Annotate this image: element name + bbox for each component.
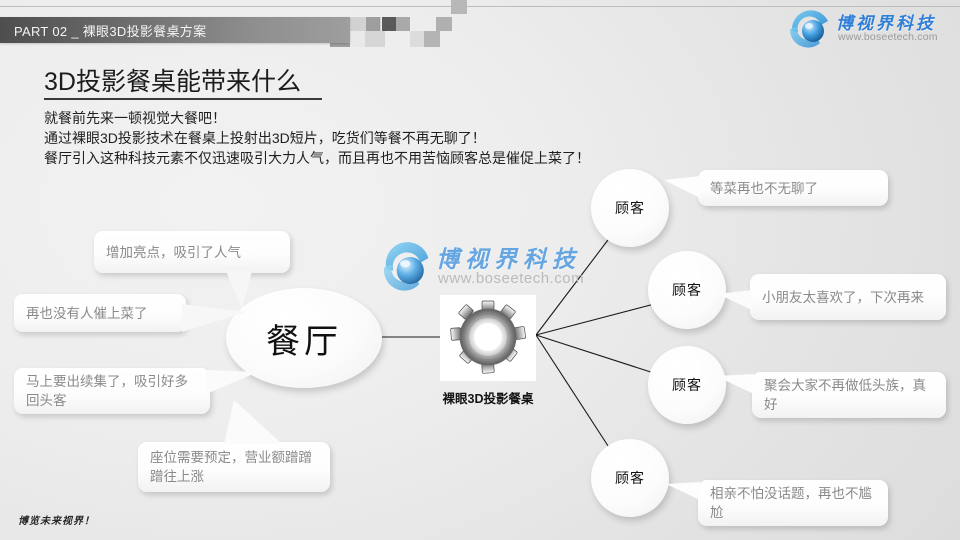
callout-restaurant-3[interactable]: 马上要出续集了，吸引好多回头客 xyxy=(14,368,210,414)
slide-canvas: PART 02 _ 裸眼3D投影餐桌方案 博视界科技 www.boseetech… xyxy=(0,0,960,540)
node-customer-1-label: 顾客 xyxy=(615,198,645,218)
callout-restaurant-2-text: 再也没有人催上菜了 xyxy=(14,304,186,323)
center-watermark: 博视界科技 www.boseetech.com xyxy=(382,238,612,300)
projection-table-caption: 裸眼3D投影餐桌 xyxy=(422,388,554,407)
callout-customer-2-text: 小朋友太喜欢了，下次再来 xyxy=(750,288,946,307)
node-customer-2-label: 顾客 xyxy=(672,280,702,300)
callout-customer-1[interactable]: 等菜再也不无聊了 xyxy=(698,170,888,206)
footer-slogan: 博览未来视界！ xyxy=(18,512,95,527)
node-customer-3[interactable]: 顾客 xyxy=(648,346,726,424)
callout-tail xyxy=(182,304,246,332)
callout-restaurant-4-text: 座位需要预定，营业额蹭蹭蹭往上涨 xyxy=(138,448,330,486)
callout-restaurant-3-text: 马上要出续集了，吸引好多回头客 xyxy=(14,372,210,410)
callout-restaurant-2[interactable]: 再也没有人催上菜了 xyxy=(14,294,186,332)
callout-customer-3-text: 聚会大家不再做低头族，真好 xyxy=(752,376,946,414)
callout-customer-4[interactable]: 相亲不怕没话题，再也不尴尬 xyxy=(698,480,888,526)
callout-tail xyxy=(224,400,282,444)
round-table-topview-icon xyxy=(440,295,536,381)
callout-customer-4-text: 相亲不怕没话题，再也不尴尬 xyxy=(698,484,888,522)
callout-restaurant-1-text: 增加亮点，吸引了人气 xyxy=(94,243,290,262)
callout-customer-1-text: 等菜再也不无聊了 xyxy=(698,179,888,198)
callout-customer-2[interactable]: 小朋友太喜欢了，下次再来 xyxy=(750,274,946,320)
callout-tail xyxy=(716,374,754,394)
projection-table-image xyxy=(440,295,536,381)
node-customer-3-label: 顾客 xyxy=(672,375,702,395)
node-customer-4-label: 顾客 xyxy=(615,468,645,488)
boseetech-eye-icon-watermark xyxy=(382,238,434,294)
callout-tail xyxy=(206,370,258,394)
watermark-url-text: www.boseetech.com xyxy=(438,270,584,287)
node-restaurant-label: 餐厅 xyxy=(266,314,342,363)
node-customer-2[interactable]: 顾客 xyxy=(648,251,726,329)
watermark-brand-text: 博视界科技 xyxy=(436,240,581,274)
callout-restaurant-1[interactable]: 增加亮点，吸引了人气 xyxy=(94,231,290,273)
callout-customer-3[interactable]: 聚会大家不再做低头族，真好 xyxy=(752,372,946,418)
node-customer-4[interactable]: 顾客 xyxy=(591,439,669,517)
callout-tail xyxy=(666,482,700,500)
callout-tail xyxy=(718,290,752,310)
callout-restaurant-4[interactable]: 座位需要预定，营业额蹭蹭蹭往上涨 xyxy=(138,442,330,492)
callout-tail xyxy=(664,176,700,198)
node-customer-1[interactable]: 顾客 xyxy=(591,169,669,247)
